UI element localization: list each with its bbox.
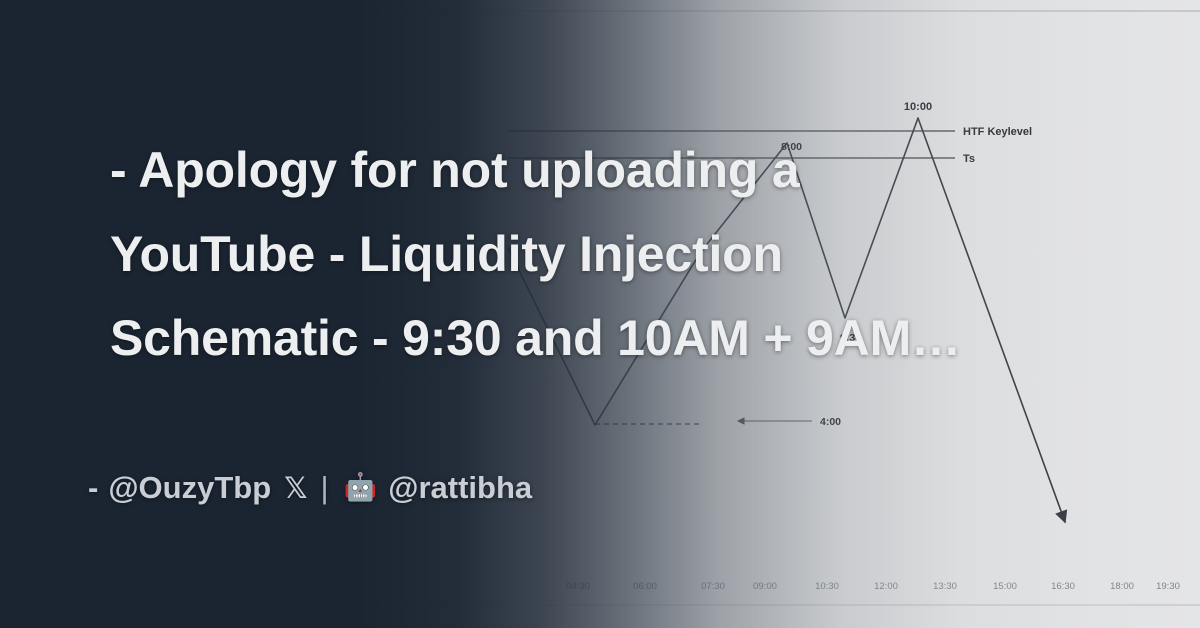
- social-share-card: HTF Keylevel Ts 8:00 10:00 9:30 4:00 04:…: [0, 0, 1200, 628]
- headline-line-1: - Apology for not uploading a: [110, 128, 1110, 212]
- byline-separator: |: [321, 466, 329, 510]
- page-title: - Apology for not uploading a YouTube - …: [110, 128, 1110, 380]
- x-logo-icon: 𝕏: [284, 466, 307, 510]
- author-handle[interactable]: @OuzyTbp: [108, 466, 271, 510]
- headline-line-3: Schematic - 9:30 and 10AM + 9AM…: [110, 296, 1110, 380]
- headline-line-2: YouTube - Liquidity Injection: [110, 212, 1110, 296]
- robot-icon: 🤖: [344, 466, 378, 510]
- text-overlay: - Apology for not uploading a YouTube - …: [0, 0, 1200, 628]
- source-handle[interactable]: @rattibha: [388, 466, 532, 510]
- byline: - @OuzyTbp 𝕏 | 🤖 @rattibha: [88, 466, 532, 510]
- byline-dash: -: [88, 466, 98, 510]
